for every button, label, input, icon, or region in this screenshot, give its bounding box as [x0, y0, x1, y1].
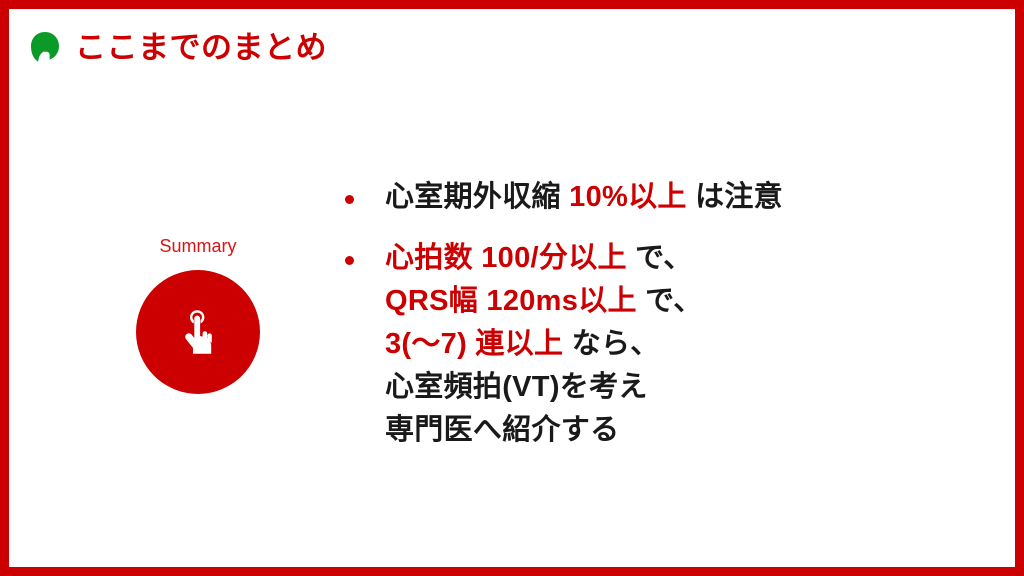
- bullet-marker-icon: [345, 256, 354, 265]
- slide-header: ここまでのまとめ: [30, 31, 327, 63]
- text-segment: は注意: [695, 181, 783, 213]
- text-segment: 専門医へ紹介する: [385, 414, 619, 446]
- summary-label: Summary: [159, 237, 236, 257]
- list-item: 心拍数 100/分以上 で、 QRS幅 120ms以上 で、 3(〜7) 連以上…: [345, 237, 945, 452]
- summary-badge: Summary: [136, 237, 260, 394]
- text-line: 専門医へ紹介する: [385, 409, 703, 452]
- slide-content-area: ここまでのまとめ Summary: [9, 9, 1015, 567]
- summary-circle-button[interactable]: [136, 270, 260, 394]
- green-leaf-blob-icon: [30, 31, 60, 63]
- text-segment-highlight: 10%以上: [569, 181, 687, 213]
- list-item: 心室期外収縮 10%以上 は注意: [345, 176, 945, 219]
- summary-bullet-list: 心室期外収縮 10%以上 は注意 心拍数 100/分以上 で、 QRS幅 120…: [345, 176, 945, 451]
- text-segment: 心室期外収縮: [385, 181, 569, 213]
- list-item-text: 心室期外収縮 10%以上 は注意: [385, 176, 783, 219]
- text-segment: で、: [645, 285, 702, 317]
- text-line: 心室頻拍(VT)を考え: [385, 366, 703, 409]
- text-line: 心拍数 100/分以上 で、: [385, 237, 703, 280]
- tap-hand-pointer-icon: [178, 307, 218, 357]
- text-segment: 心室頻拍(VT)を考え: [385, 371, 648, 403]
- text-segment-highlight: 心拍数 100/分以上: [385, 242, 627, 274]
- bullet-marker-icon: [345, 195, 354, 204]
- page-title: ここまでのまとめ: [75, 32, 327, 63]
- text-line: QRS幅 120ms以上 で、: [385, 280, 703, 323]
- text-segment: で、: [635, 242, 692, 274]
- slide-frame: ここまでのまとめ Summary: [0, 0, 1024, 576]
- text-line: 3(〜7) 連以上 なら、: [385, 323, 703, 366]
- text-line: 心室期外収縮 10%以上 は注意: [385, 176, 783, 219]
- text-segment: なら、: [572, 328, 660, 360]
- text-segment-highlight: 3(〜7) 連以上: [385, 328, 563, 360]
- list-item-text: 心拍数 100/分以上 で、 QRS幅 120ms以上 で、 3(〜7) 連以上…: [385, 237, 703, 452]
- text-segment-highlight: QRS幅 120ms以上: [385, 285, 637, 317]
